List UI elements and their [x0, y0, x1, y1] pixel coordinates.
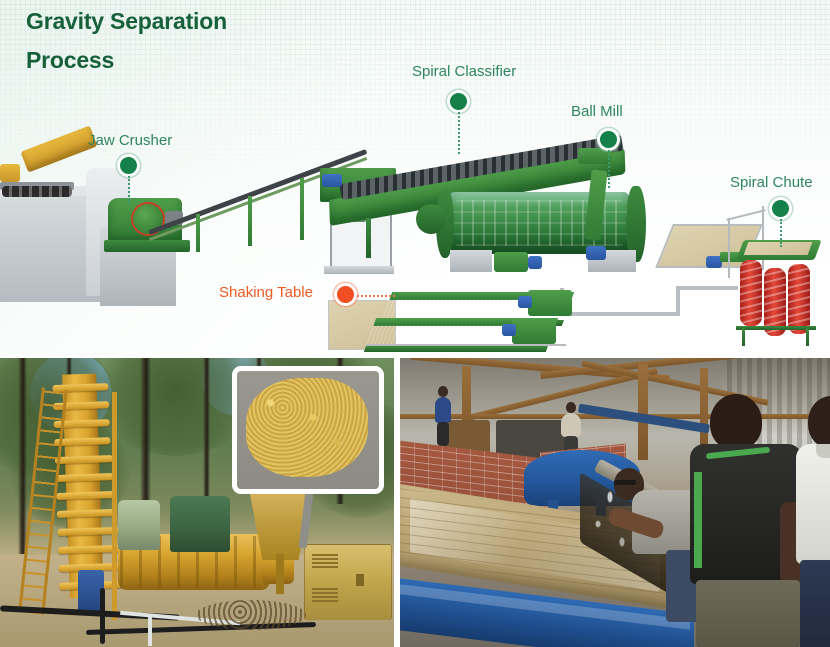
marker-jaw-crusher[interactable]	[120, 157, 137, 174]
photo-inset-ore	[232, 366, 384, 494]
ball-mill-coupling	[528, 256, 542, 269]
photo-left-mine-site	[0, 358, 394, 647]
spiral-chute-leg	[806, 328, 809, 346]
gravity-separation-infographic: Gravity Separation Process	[0, 0, 830, 647]
hopper-support	[276, 554, 284, 594]
mill-feed-elevator	[578, 148, 612, 164]
spiral-chute-leg	[742, 328, 745, 346]
tree-trunk	[18, 358, 27, 554]
worker-torso	[796, 444, 830, 564]
worker-foreground-right	[798, 396, 830, 647]
support-mast	[112, 392, 117, 620]
worker-torso	[435, 397, 451, 423]
label-jaw-crusher: Jaw Crusher	[88, 132, 172, 149]
ore-concentrate-pile	[246, 378, 368, 477]
ball-mill-feed-trunnion	[416, 204, 446, 234]
water-hose	[100, 588, 105, 644]
tailings-heap	[196, 600, 306, 630]
spiral-flight	[58, 545, 120, 554]
process-pipeline	[560, 312, 680, 316]
worker-torso	[561, 413, 581, 437]
spiral-flight	[56, 491, 116, 500]
background-worker	[560, 402, 582, 454]
background-worker	[434, 386, 452, 446]
spiral-chute-column	[740, 260, 762, 326]
ball-mill-bearing-pedestal	[450, 250, 492, 272]
leader-line-ball-mill	[608, 150, 610, 188]
spiral-flight	[55, 455, 113, 464]
worker-head	[566, 402, 576, 413]
worker-glasses-icon	[614, 480, 636, 485]
spiral-flight	[55, 473, 113, 482]
shed-post	[638, 364, 648, 460]
shaking-table-motor-1	[518, 296, 532, 308]
marker-spiral-classifier[interactable]	[450, 93, 467, 110]
spiral-chute-column	[788, 264, 810, 334]
marker-spiral-chute[interactable]	[772, 200, 789, 217]
shaking-table-drive-2	[512, 318, 556, 344]
shaking-table-support-rail	[366, 344, 566, 346]
marker-ball-mill[interactable]	[600, 131, 617, 148]
platform-handrail-top	[726, 209, 765, 221]
leader-line-spiral-classifier	[458, 112, 460, 154]
generator-door-handle	[356, 574, 364, 586]
classifier-leg	[366, 218, 371, 258]
spiral-flight	[54, 437, 110, 446]
chute-pump	[586, 246, 606, 260]
water-pipe	[148, 616, 152, 646]
photo-strip	[0, 358, 830, 647]
label-spiral-chute: Spiral Chute	[730, 174, 813, 191]
leader-line-jaw-crusher	[128, 176, 130, 204]
platform-handrail	[728, 218, 730, 278]
spiral-chute-feed-bed	[744, 242, 813, 255]
dump-truck	[0, 140, 96, 202]
page-title-line-2: Process	[26, 41, 356, 80]
shaking-table-deck-edge	[364, 346, 548, 352]
page-title-line-1: Gravity Separation	[26, 2, 356, 41]
water-tank	[118, 500, 160, 550]
classifier-drive-motor	[322, 174, 342, 187]
worker-head	[438, 386, 448, 397]
worker-head	[710, 394, 762, 450]
page-title: Gravity Separation Process	[26, 2, 356, 80]
conveyor-leg	[300, 178, 304, 240]
generator-vent	[312, 586, 338, 602]
worker-legs	[437, 422, 449, 446]
leader-line-shaking-table	[357, 295, 395, 297]
truck-cab	[0, 164, 20, 182]
label-ball-mill: Ball Mill	[571, 103, 623, 120]
worker-head	[808, 396, 830, 448]
spiral-flight	[57, 509, 117, 518]
ball-mill	[438, 186, 652, 270]
worker-shirt-trim	[694, 472, 702, 568]
conveyor-leg	[196, 214, 200, 252]
worker-legs	[696, 580, 800, 647]
generator-vent	[312, 554, 338, 568]
leader-line-spiral-chute	[780, 219, 782, 247]
worker-legs	[800, 560, 830, 647]
surge-bin-footing	[324, 266, 394, 274]
tree-trunk	[203, 358, 210, 518]
process-pipeline	[676, 286, 680, 316]
water-tank	[170, 496, 230, 552]
shaking-table-drive-1	[528, 290, 572, 316]
conveyor-leg	[248, 196, 252, 246]
spiral-chute-frame	[736, 326, 816, 330]
photo-right-shaking-table-operation	[400, 358, 830, 647]
worker-collar	[816, 444, 830, 458]
shaking-table-motor-2	[502, 324, 516, 336]
process-pipeline	[676, 286, 738, 290]
marker-shaking-table[interactable]	[337, 286, 354, 303]
truck-bed	[21, 125, 98, 172]
label-spiral-classifier: Spiral Classifier	[412, 63, 516, 80]
spiral-flight	[57, 527, 119, 536]
truck-wheels	[2, 186, 72, 197]
process-flow-diagram: Gravity Separation Process	[0, 0, 830, 356]
spiral-chute-assembly	[736, 240, 830, 346]
ball-mill-drive-motor	[494, 252, 528, 272]
label-shaking-table: Shaking Table	[219, 284, 313, 301]
